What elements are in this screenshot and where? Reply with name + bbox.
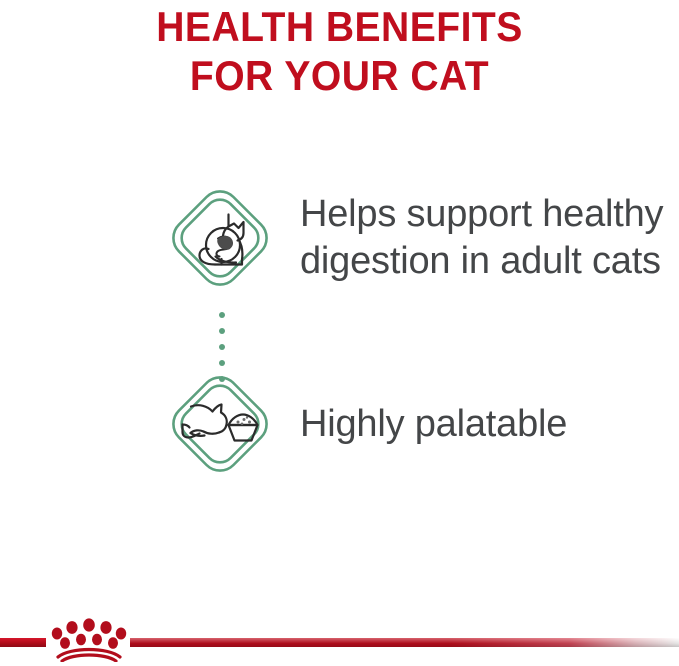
dotted-connector bbox=[219, 312, 227, 368]
page-title-line-2: FOR YOUR CAT bbox=[24, 51, 655, 100]
benefit-icon-cell bbox=[0, 362, 300, 486]
health-benefits-list: Helps support healthy digestion in adult… bbox=[0, 168, 679, 488]
connector-dot bbox=[219, 344, 225, 350]
connector-dot bbox=[219, 312, 225, 318]
benefit-icon-cell bbox=[0, 176, 300, 300]
footer-rule-right bbox=[130, 638, 679, 647]
benefit-label: Helps support healthy digestion in adult… bbox=[300, 191, 679, 285]
page-title: HEALTH BENEFITS FOR YOUR CAT bbox=[0, 0, 679, 100]
connector-dot bbox=[219, 328, 225, 334]
benefit-item: Helps support healthy digestion in adult… bbox=[0, 168, 679, 308]
connector-dot bbox=[219, 360, 225, 366]
footer-brand-bar bbox=[0, 606, 679, 666]
benefit-label: Highly palatable bbox=[300, 401, 679, 448]
royal-canin-crown-logo bbox=[48, 614, 130, 662]
cat-digestion-icon bbox=[158, 176, 282, 300]
page-title-line-1: HEALTH BENEFITS bbox=[24, 2, 655, 51]
connector-dot bbox=[219, 376, 225, 382]
benefit-item: Highly palatable bbox=[0, 360, 679, 488]
footer-rule-left bbox=[0, 638, 46, 647]
